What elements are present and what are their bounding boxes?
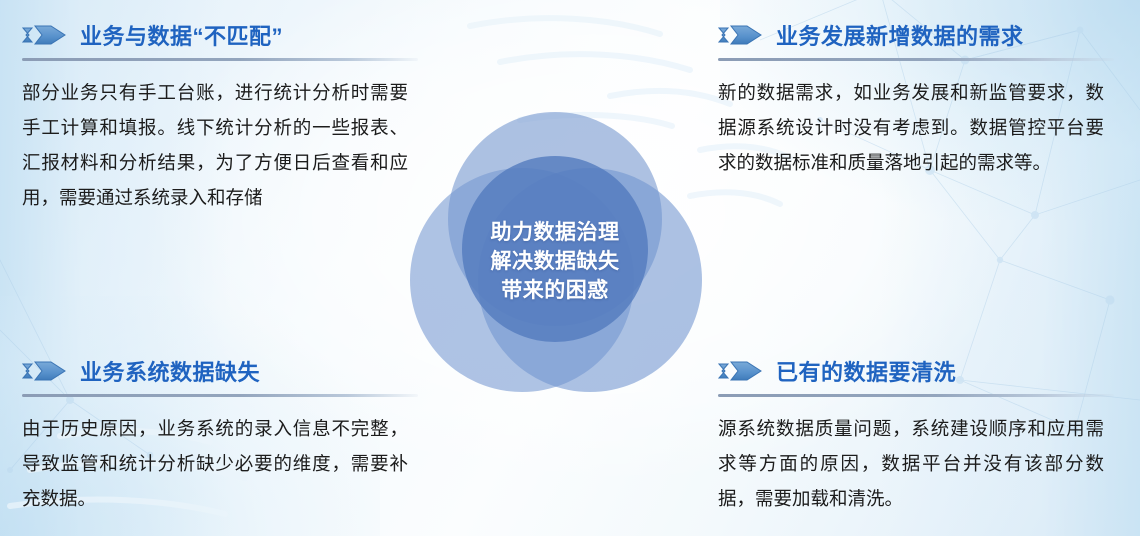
block-bottom-right: 已有的数据要清洗 源系统数据质量问题，系统建设顺序和应用需求等方面的原因，数据平… [718,352,1118,516]
arrow-right-icon [718,22,762,48]
block-top-right-body: 新的数据需求，如业务发展和新监管要求，数据源系统设计时没有考虑到。数据管控平台要… [718,75,1104,180]
block-top-left-divider [22,58,418,61]
block-top-right: 业务发展新增数据的需求 新的数据需求，如业务发展和新监管要求，数据源系统设计时没… [718,16,1118,180]
block-top-left-body: 部分业务只有手工台账，进行统计分析时需要手工计算和填报。线下统计分析的一些报表、… [22,75,408,215]
block-bottom-left-body: 由于历史原因，业务系统的录入信息不完整，导致监管和统计分析缺少必要的维度，需要补… [22,411,408,516]
block-bottom-left-header: 业务系统数据缺失 [22,352,422,390]
block-bottom-left: 业务系统数据缺失 由于历史原因，业务系统的录入信息不完整，导致监管和统计分析缺少… [22,352,422,516]
center-venn-graphic: 助力数据治理 解决数据缺失 带来的困惑 [404,112,706,406]
block-bottom-left-divider [22,394,418,397]
block-bottom-left-title: 业务系统数据缺失 [80,355,260,387]
center-caption-line-1: 助力数据治理 [404,218,706,247]
block-top-right-divider [718,58,1114,61]
arrow-right-icon [22,358,66,384]
block-top-left-title: 业务与数据“不匹配” [80,19,283,51]
arrow-right-icon [22,22,66,48]
block-top-left-header: 业务与数据“不匹配” [22,16,422,54]
block-bottom-right-divider [718,394,1114,397]
block-top-right-header: 业务发展新增数据的需求 [718,16,1118,54]
block-bottom-right-title: 已有的数据要清洗 [776,355,956,387]
block-bottom-right-header: 已有的数据要清洗 [718,352,1118,390]
block-bottom-right-body: 源系统数据质量问题，系统建设顺序和应用需求等方面的原因，数据平台并没有该部分数据… [718,411,1104,516]
arrow-right-icon [718,358,762,384]
center-caption-line-3: 带来的困惑 [404,276,706,305]
center-caption: 助力数据治理 解决数据缺失 带来的困惑 [404,218,706,305]
block-top-left: 业务与数据“不匹配” 部分业务只有手工台账，进行统计分析时需要手工计算和填报。线… [22,16,422,215]
center-caption-line-2: 解决数据缺失 [404,247,706,276]
block-top-right-title: 业务发展新增数据的需求 [776,19,1024,51]
slide-canvas: 助力数据治理 解决数据缺失 带来的困惑 业务与数据“不匹配” 部分业务只有 [0,0,1140,536]
